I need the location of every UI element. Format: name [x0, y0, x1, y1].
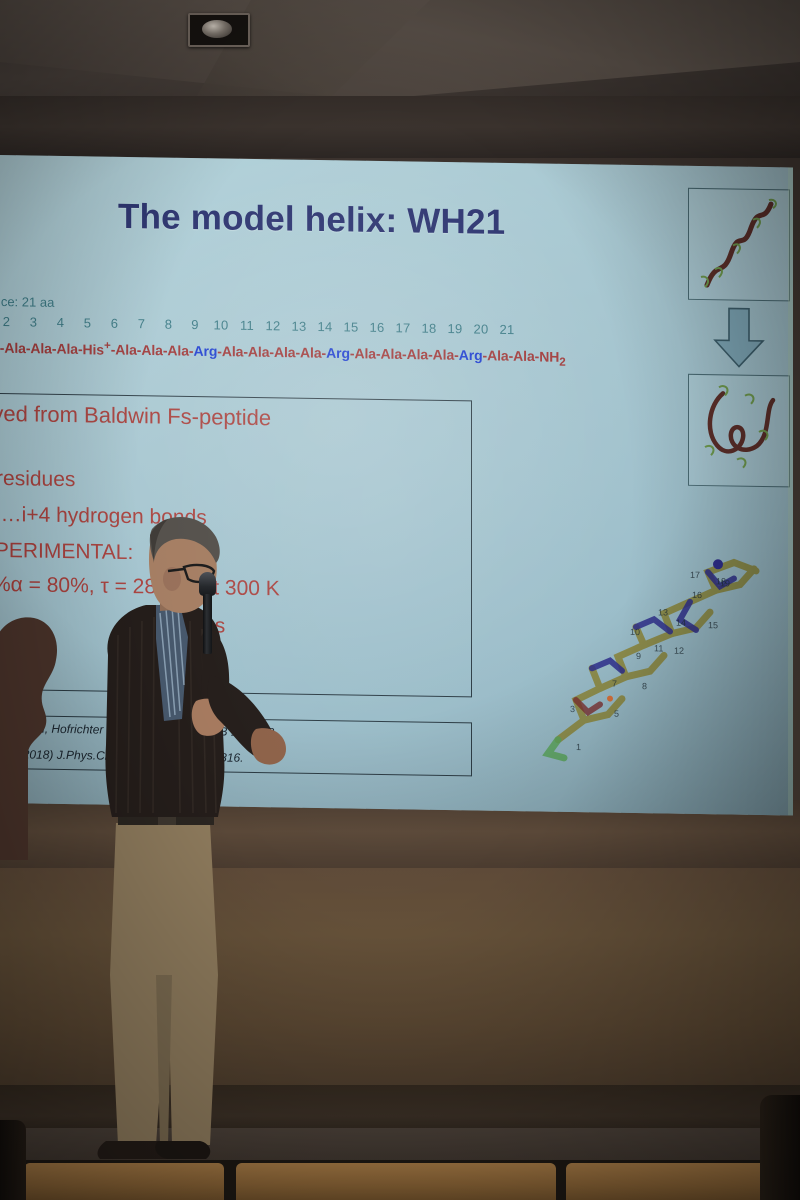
svg-text:16: 16 — [692, 590, 702, 600]
ceiling-beam — [0, 96, 800, 158]
molecule-model: 13 57 89 1011 1213 1415 1617 1819 — [530, 533, 793, 767]
ceiling-spotlight-icon — [188, 13, 250, 47]
sequence-numbers: 123456789101112131415161718192021 — [0, 313, 520, 337]
screen-right-edge — [788, 167, 793, 815]
residue-arg: Arg — [459, 347, 483, 363]
svg-text:11: 11 — [654, 643, 663, 653]
residue-arg: Arg — [193, 343, 217, 359]
residue-nh: NH2 — [539, 348, 565, 364]
sequence-number: 19 — [442, 321, 468, 336]
svg-text:1: 1 — [576, 742, 581, 752]
bullet-residues: - 21 residues — [0, 466, 75, 492]
svg-text:5: 5 — [614, 709, 619, 719]
residue-ala: Ala — [222, 343, 244, 359]
helix-diagram-box — [688, 188, 790, 302]
sequence-number: 16 — [364, 320, 390, 335]
sequence-number: 12 — [260, 318, 286, 333]
residue-ala: Ala — [513, 348, 535, 364]
chair-2 — [236, 1163, 556, 1200]
sequence-number: 20 — [468, 321, 494, 336]
ceiling — [0, 0, 800, 160]
residue-ala: Ala — [300, 344, 322, 360]
svg-text:10: 10 — [630, 627, 640, 637]
sequence-number: 14 — [312, 319, 338, 334]
random-coil-icon — [689, 375, 789, 487]
residue-ala: Ala — [433, 346, 455, 362]
sequence-number: 15 — [338, 319, 364, 334]
svg-text:9: 9 — [636, 651, 641, 661]
svg-text:14: 14 — [676, 618, 686, 628]
sequence-number: 13 — [286, 318, 312, 333]
svg-text:15: 15 — [708, 620, 718, 630]
svg-text:8: 8 — [642, 681, 647, 691]
main-box-heading: Derived from Baldwin Fs-peptide — [0, 400, 271, 431]
sequence-number: 5 — [74, 315, 101, 330]
sequence-number: 2 — [0, 314, 20, 329]
chair-3 — [566, 1163, 766, 1200]
microphone — [199, 572, 216, 654]
residue-ala: Ala — [407, 346, 429, 362]
residue-arg: Arg — [326, 345, 350, 361]
coil-diagram-box — [688, 374, 790, 488]
foreground-edge-left — [0, 1120, 26, 1200]
sequence-number: 6 — [101, 316, 128, 331]
residue-ala: Ala — [354, 345, 376, 361]
sequence-number: 17 — [390, 320, 416, 335]
residue-ala: Ala — [274, 344, 296, 360]
sequence-number: 8 — [155, 316, 182, 331]
microphone-head — [199, 572, 216, 596]
residue-ala: Ala — [141, 342, 163, 358]
svg-text:3: 3 — [570, 704, 575, 714]
sequence-string: Ac-Trp-Ala-Ala-Ala-His+-Ala-Ala-Ala-Arg-… — [0, 336, 566, 368]
sequence-number: 4 — [47, 315, 74, 330]
sequence-number: 3 — [20, 314, 47, 329]
residue-ala: Ala — [56, 341, 78, 357]
chair-1 — [24, 1163, 224, 1200]
svg-text:12: 12 — [674, 646, 684, 656]
sequence-number: 10 — [208, 317, 234, 332]
sequence-label: Sequence: 21 aa — [0, 293, 54, 310]
residue-ala: Ala — [30, 340, 52, 356]
residue-ala: Ala — [4, 340, 26, 356]
sequence-number: 21 — [494, 322, 520, 337]
residue-his: His+ — [83, 341, 111, 357]
sequence-number: 7 — [128, 316, 155, 331]
presenter — [60, 505, 290, 1165]
residue-ala: Ala — [248, 344, 270, 360]
svg-text:7: 7 — [612, 679, 617, 689]
transition-down-arrow-icon — [711, 306, 767, 369]
foreground-edge-right — [760, 1095, 800, 1200]
sequence-number: 9 — [182, 317, 208, 332]
residue-ala: Ala — [167, 342, 189, 358]
lecture-hall-photo: The model helix: WH21 Sequence: 21 aa 12… — [0, 0, 800, 1200]
svg-text:17: 17 — [690, 570, 700, 580]
microphone-body — [203, 594, 212, 654]
svg-text:19: 19 — [720, 578, 730, 588]
residue-ala: Ala — [381, 346, 403, 362]
residue-ala: Ala — [487, 347, 509, 363]
alpha-helix-icon — [689, 189, 789, 301]
residue-ala: Ala — [115, 341, 137, 357]
slide-title: The model helix: WH21 — [118, 197, 505, 243]
residue-dash: - — [78, 341, 83, 357]
sequence-number: 11 — [234, 318, 260, 333]
svg-text:13: 13 — [658, 607, 668, 617]
sequence-number: 18 — [416, 321, 442, 336]
